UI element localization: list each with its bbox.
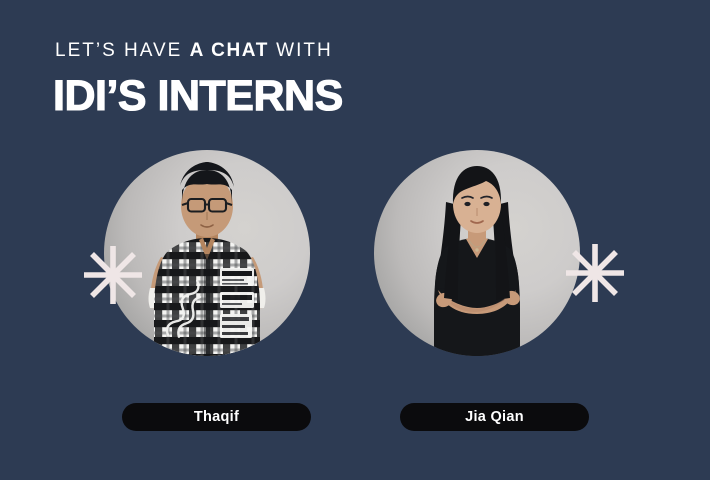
name-pill-thaqif[interactable]: Thaqif xyxy=(122,403,311,431)
page-title: IDI’S INTERNS xyxy=(53,72,343,121)
name-label-jiaqian: Jia Qian xyxy=(465,409,524,425)
kicker-post-text: WITH xyxy=(269,40,333,61)
kicker-emphasis-text: A CHAT xyxy=(190,40,269,61)
sparkle-star-left xyxy=(81,243,145,307)
poster-canvas: LET’S HAVE A CHAT WITH IDI’S INTERNS xyxy=(0,0,710,480)
poster-kicker: LET’S HAVE A CHAT WITH xyxy=(55,40,333,62)
kicker-pre-text: LET’S HAVE xyxy=(55,40,190,61)
name-label-thaqif: Thaqif xyxy=(194,409,239,425)
portrait-photo-jiaqian xyxy=(374,150,580,356)
name-pill-jiaqian[interactable]: Jia Qian xyxy=(400,403,589,431)
sparkle-star-right xyxy=(563,241,627,305)
portrait-disc-jiaqian xyxy=(374,150,580,356)
